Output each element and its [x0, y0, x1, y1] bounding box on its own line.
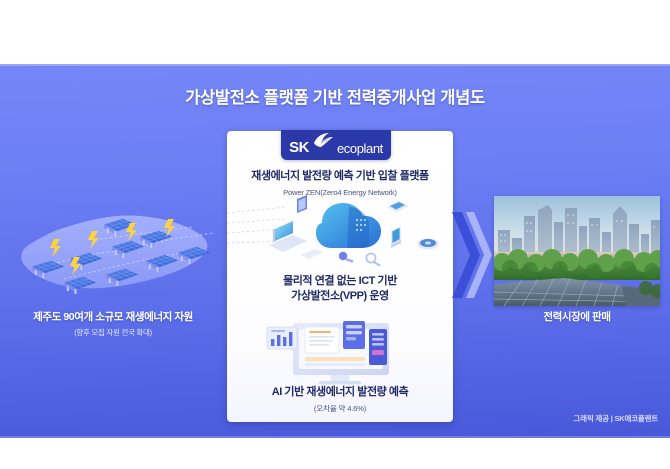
jeju-island-illustration [8, 205, 218, 309]
wing-icon [312, 132, 334, 153]
city-skyline-solar-rooftop-photo [494, 196, 660, 306]
cloud-ict-devices-illustration [227, 193, 453, 271]
card-section-2: 물리적 연결 없는 ICT 기반 가상발전소(VPP) 운영 [227, 274, 453, 304]
database-icon [417, 239, 439, 250]
section-1-heading: 재생에너지 발전량 예측 기반 입찰 플랫폼 [227, 169, 453, 184]
left-caption: 제주도 90여개 소규모 재생에너지 자원 (향후 모집 자원 전국 확대) [8, 309, 218, 338]
infographic-root: 가상발전소 플랫폼 기반 전력중개사업 개념도 [0, 0, 670, 469]
panel-bottom-divider [0, 436, 670, 438]
left-caption-sub: (향후 모집 자원 전국 확대) [8, 327, 218, 338]
page-title: 가상발전소 플랫폼 기반 전력중개사업 개념도 [0, 84, 670, 108]
section-3-heading: AI 기반 재생에너지 발전량 예측 [227, 385, 453, 400]
right-caption: 전력시장에 판매 [494, 309, 660, 324]
card-section-3: AI 기반 재생에너지 발전량 예측 (오차율 약 4.6%) [227, 385, 453, 414]
island-svg [8, 205, 218, 309]
solar-rooftop [494, 278, 660, 306]
panel-top-divider [0, 64, 670, 66]
cloud-shape [316, 203, 381, 248]
credit-text: 그래픽 제공 | SK에코플랜트 [573, 413, 658, 424]
platform-card: SK ecoplant 재생에너지 발전량 예측 기반 입찰 플랫폼 Power… [227, 131, 453, 422]
floor-items [301, 249, 381, 267]
logo-sk-text: SK [289, 139, 309, 156]
right-market-group: 전력시장에 판매 [494, 196, 660, 326]
logo-ecoplant-text: ecoplant [337, 141, 383, 156]
section-2-heading-line2: 가상발전소(VPP) 운영 [227, 289, 453, 304]
sk-ecoplant-logo: SK ecoplant [281, 130, 391, 160]
left-source-group: 제주도 90여개 소규모 재생에너지 자원 (향후 모집 자원 전국 확대) [8, 205, 218, 350]
tablet-icon-right [387, 201, 409, 212]
section-3-sub: (오차율 약 4.6%) [227, 403, 453, 414]
tablet-icon-left [297, 195, 307, 213]
phone-icon [391, 226, 401, 248]
chart-widget [267, 327, 297, 349]
left-caption-main: 제주도 90여개 소규모 재생에너지 자원 [8, 309, 218, 324]
laptop-icon [269, 221, 307, 252]
dashboard-monitor-illustration [227, 317, 453, 393]
chevron-right-arrows [452, 212, 496, 298]
section-2-heading-line1: 물리적 연결 없는 ICT 기반 [227, 274, 453, 289]
